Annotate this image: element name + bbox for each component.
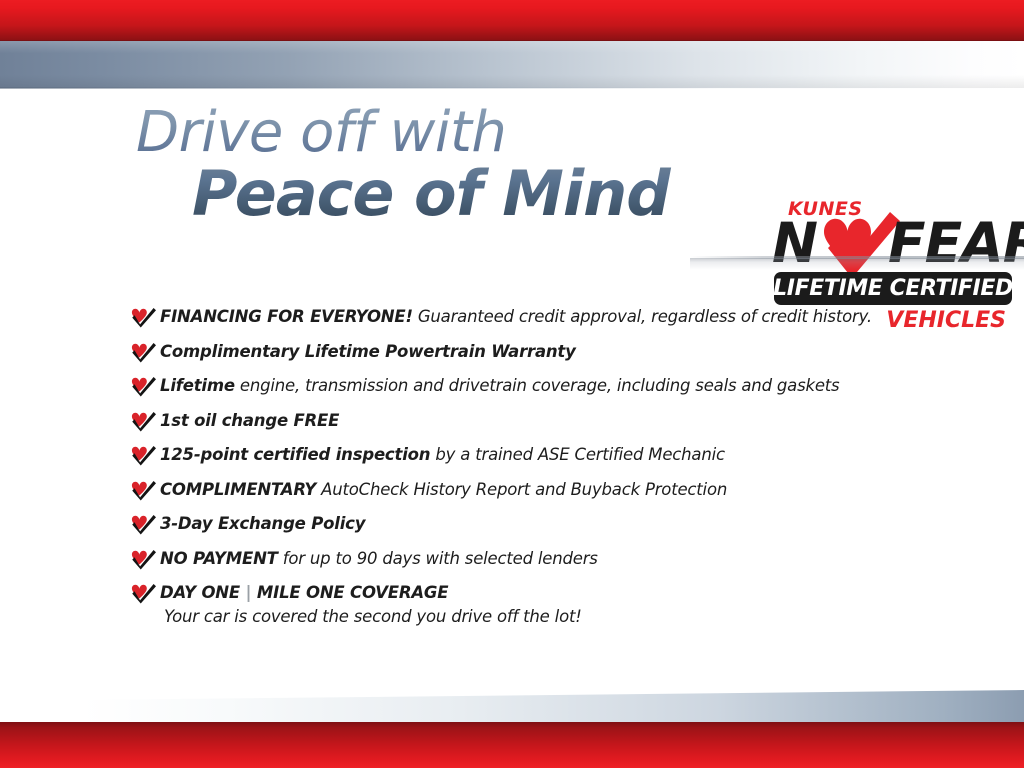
logo-lifetime-certified-bar: LIFETIME CERTIFIED bbox=[774, 272, 1012, 305]
benefit-text: NO PAYMENT for up to 90 days with select… bbox=[160, 547, 950, 570]
benefit-detail: AutoCheck History Report and Buyback Pro… bbox=[316, 480, 727, 499]
top-red-banner bbox=[0, 0, 1024, 41]
heart-check-bullet-icon bbox=[130, 583, 160, 607]
benefit-row: COMPLIMENTARY AutoCheck History Report a… bbox=[130, 478, 950, 504]
benefit-lead: Lifetime bbox=[160, 376, 235, 395]
heart-check-bullet-icon bbox=[130, 307, 160, 331]
heart-check-bullet-icon bbox=[130, 480, 160, 504]
benefit-text: DAY ONE | MILE ONE COVERAGEYour car is c… bbox=[160, 581, 950, 628]
benefit-row: NO PAYMENT for up to 90 days with select… bbox=[130, 547, 950, 573]
benefit-detail: Guaranteed credit approval, regardless o… bbox=[413, 307, 872, 326]
benefit-lead: NO PAYMENT bbox=[160, 549, 278, 568]
benefit-lead: FINANCING FOR EVERYONE! bbox=[160, 307, 413, 326]
benefit-detail: engine, transmission and drivetrain cove… bbox=[235, 376, 840, 395]
benefit-detail: by a trained ASE Certified Mechanic bbox=[430, 445, 725, 464]
benefit-lead: 3-Day Exchange Policy bbox=[160, 514, 365, 533]
benefit-row: Lifetime engine, transmission and drivet… bbox=[130, 374, 950, 400]
benefits-list: FINANCING FOR EVERYONE! Guaranteed credi… bbox=[130, 305, 950, 637]
benefit-row: 3-Day Exchange Policy bbox=[130, 512, 950, 538]
top-gray-banner-sheen bbox=[0, 41, 1024, 88]
benefit-row: DAY ONE | MILE ONE COVERAGEYour car is c… bbox=[130, 581, 950, 628]
benefit-row: FINANCING FOR EVERYONE! Guaranteed credi… bbox=[130, 305, 950, 331]
header-section: Drive off with Peace of Mind KUNES N FEA… bbox=[0, 88, 1024, 260]
benefit-lead-secondary: MILE ONE COVERAGE bbox=[257, 583, 448, 602]
benefit-lead: 1st oil change FREE bbox=[160, 411, 339, 430]
benefit-text: FINANCING FOR EVERYONE! Guaranteed credi… bbox=[160, 305, 950, 328]
benefit-separator: | bbox=[240, 583, 257, 602]
benefit-row: 125-point certified inspection by a trai… bbox=[130, 443, 950, 469]
heart-check-bullet-icon bbox=[130, 549, 160, 573]
benefit-text: 3-Day Exchange Policy bbox=[160, 512, 950, 535]
benefit-subtext: Your car is covered the second you drive… bbox=[164, 606, 950, 628]
logo-lifetime-certified-text: LIFETIME CERTIFIED bbox=[773, 276, 1013, 301]
benefit-detail: for up to 90 days with selected lenders bbox=[278, 549, 598, 568]
benefit-text: Lifetime engine, transmission and drivet… bbox=[160, 374, 950, 397]
benefit-text: COMPLIMENTARY AutoCheck History Report a… bbox=[160, 478, 950, 501]
promo-page: Drive off with Peace of Mind KUNES N FEA… bbox=[0, 0, 1024, 768]
heart-check-bullet-icon bbox=[130, 376, 160, 400]
headline-line-2: Peace of Mind bbox=[192, 160, 776, 228]
headline-line-1: Drive off with bbox=[136, 102, 776, 164]
bottom-gray-banner bbox=[0, 690, 1024, 724]
benefit-text: Complimentary Lifetime Powertrain Warran… bbox=[160, 340, 950, 363]
benefit-lead: Complimentary Lifetime Powertrain Warran… bbox=[160, 342, 576, 361]
benefit-row: Complimentary Lifetime Powertrain Warran… bbox=[130, 340, 950, 366]
bottom-red-banner bbox=[0, 722, 1024, 768]
benefit-lead: 125-point certified inspection bbox=[160, 445, 430, 464]
benefit-text: 1st oil change FREE bbox=[160, 409, 950, 432]
heart-check-bullet-icon bbox=[130, 342, 160, 366]
header-divider-shadow bbox=[690, 258, 1024, 270]
heart-check-bullet-icon bbox=[130, 445, 160, 469]
headline-block: Drive off with Peace of Mind bbox=[136, 102, 776, 228]
benefit-lead: DAY ONE bbox=[160, 583, 240, 602]
benefit-lead: COMPLIMENTARY bbox=[160, 480, 316, 499]
heart-check-bullet-icon bbox=[130, 411, 160, 435]
benefit-row: 1st oil change FREE bbox=[130, 409, 950, 435]
benefit-text: 125-point certified inspection by a trai… bbox=[160, 443, 950, 466]
heart-check-bullet-icon bbox=[130, 514, 160, 538]
